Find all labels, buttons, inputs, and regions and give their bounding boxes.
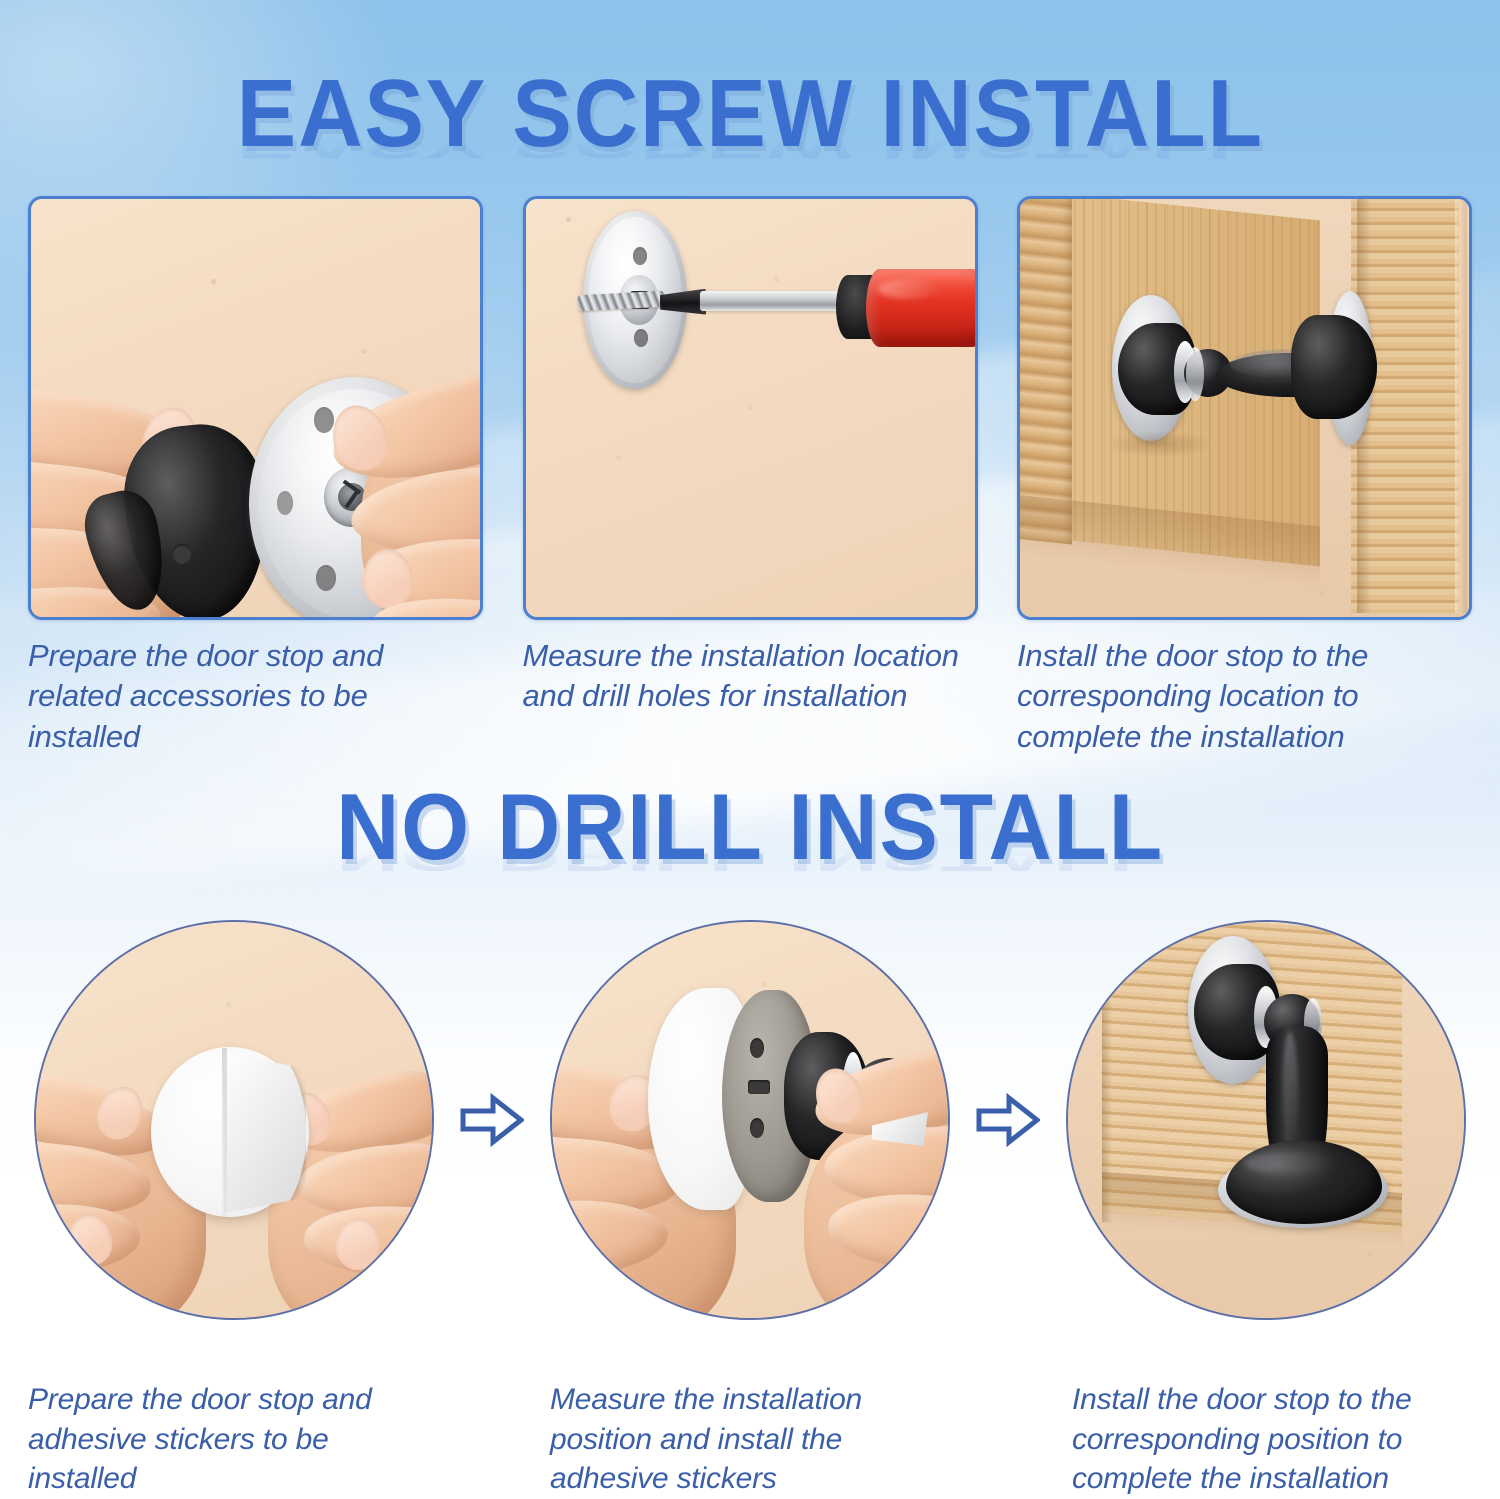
photo-hands-peeling-adhesive-sticker <box>34 920 434 1320</box>
photo-screwdriver-driving-screw-into-mounting-plate <box>523 196 978 620</box>
screw-step-2: Measure the installation location and dr… <box>523 196 978 757</box>
photo-door-stop-installed-between-door-and-wall <box>1017 196 1472 620</box>
screw-step-3: Install the door stop to the correspondi… <box>1017 196 1472 757</box>
heading-text: NO DRILL INSTALL <box>336 780 1164 874</box>
arrow-right-icon <box>976 1092 1040 1148</box>
photo-door-stop-mounted-on-door-with-adhesive <box>1066 920 1466 1320</box>
photo-hands-attaching-sticker-to-door-stop-base <box>550 920 950 1320</box>
photo-hands-holding-door-stop-and-mounting-plate <box>28 196 483 620</box>
nodrill-step-2-caption: Measure the installation position and in… <box>540 1380 960 1499</box>
screw-install-steps-row: Prepare the door stop and related access… <box>0 196 1500 757</box>
screw-step-3-caption: Install the door stop to the correspondi… <box>1017 636 1472 757</box>
arrow-between-step-1-and-2 <box>449 920 535 1320</box>
nodrill-step-3-caption: Install the door stop to the correspondi… <box>1056 1380 1476 1499</box>
heading-text: EASY SCREW INSTALL <box>236 66 1263 162</box>
nodrill-step-1: Prepare the door stop and adhesive stick… <box>24 920 444 1499</box>
nodrill-step-2: Measure the installation position and in… <box>540 920 960 1499</box>
nodrill-step-3: Install the door stop to the correspondi… <box>1056 920 1476 1499</box>
no-drill-steps-row: Prepare the door stop and adhesive stick… <box>0 920 1500 1499</box>
screw-step-1-caption: Prepare the door stop and related access… <box>28 636 483 757</box>
infographic-page: EASY SCREW INSTALL EASY SCREW INSTALL <box>0 0 1500 1460</box>
screw-step-2-caption: Measure the installation location and dr… <box>523 636 978 717</box>
nodrill-step-1-caption: Prepare the door stop and adhesive stick… <box>24 1380 444 1499</box>
arrow-right-icon <box>460 1092 524 1148</box>
arrow-between-step-2-and-3 <box>965 920 1051 1320</box>
screw-step-1: Prepare the door stop and related access… <box>28 196 483 757</box>
